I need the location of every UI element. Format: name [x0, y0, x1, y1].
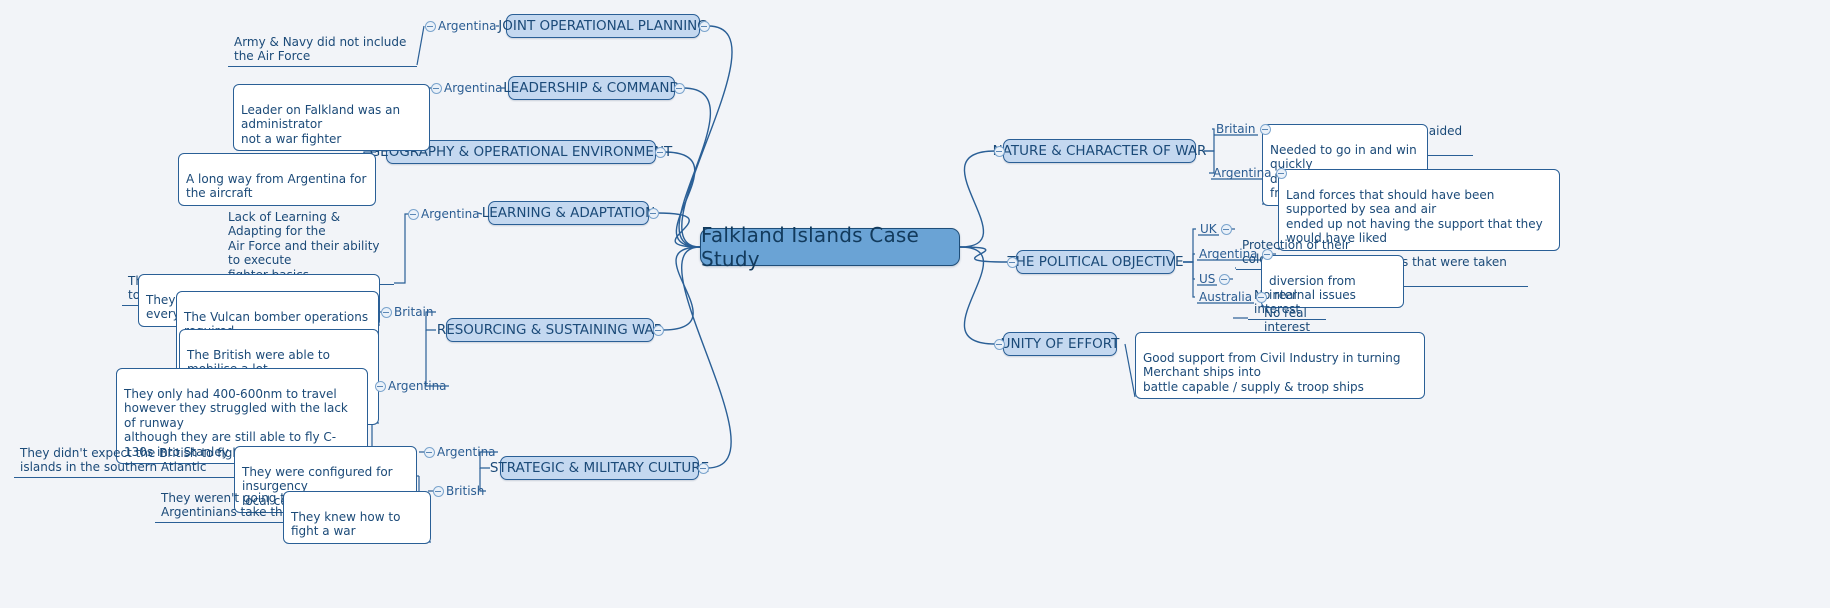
collapse-icon[interactable] — [994, 339, 1005, 350]
topic-strategic-and-military-culture[interactable]: STRATEGIC & MILITARY CULTURE — [500, 456, 699, 480]
collapse-icon[interactable] — [674, 83, 685, 94]
topic-nature-and-character-of-war[interactable]: NATURE & CHARACTER OF WAR — [1003, 139, 1196, 163]
collapse-icon[interactable] — [425, 21, 436, 32]
group-label-text: UK — [1200, 222, 1217, 236]
collapse-icon[interactable] — [648, 208, 659, 219]
topic-joint-operational-planning[interactable]: JOINT OPERATIONAL PLANNING — [506, 14, 700, 38]
collapse-icon[interactable] — [375, 381, 386, 392]
group-label-argentina[interactable]: Argentina — [438, 19, 497, 33]
topic-learning-and-adaptation[interactable]: LEARNING & ADAPTATION — [488, 201, 649, 225]
topic-label: STRATEGIC & MILITARY CULTURE — [490, 460, 709, 476]
topic-label: RESOURCING & SUSTAINING WAR — [437, 322, 663, 338]
leaf-item[interactable]: They knew how to fight a war — [283, 491, 431, 544]
group-label-british[interactable]: British — [446, 484, 484, 498]
group-label-britain[interactable]: Britain — [394, 305, 434, 319]
collapse-icon[interactable] — [653, 325, 664, 336]
topic-resourcing-and-sustaining-war[interactable]: RESOURCING & SUSTAINING WAR — [446, 318, 654, 342]
topic-label: JOINT OPERATIONAL PLANNING — [498, 18, 708, 34]
group-label-us[interactable]: US — [1199, 272, 1215, 286]
collapse-icon[interactable] — [1260, 124, 1271, 135]
root-node[interactable]: Falkland Islands Case Study — [700, 228, 960, 266]
topic-label: LEADERSHIP & COMMAND — [503, 80, 680, 96]
collapse-icon[interactable] — [424, 447, 435, 458]
topic-the-political-objective[interactable]: THE POLITICAL OBJECTIVE — [1016, 250, 1175, 274]
group-label-text: Argentina — [1213, 166, 1272, 180]
collapse-icon[interactable] — [698, 463, 709, 474]
group-label-britain[interactable]: Britain — [1216, 122, 1256, 136]
collapse-icon[interactable] — [1256, 292, 1267, 303]
topic-label: NATURE & CHARACTER OF WAR — [993, 143, 1207, 159]
group-label-text: Argentina — [437, 445, 496, 459]
group-label-text: Argentina — [444, 81, 503, 95]
topic-leadership-and-command[interactable]: LEADERSHIP & COMMAND — [508, 76, 675, 100]
group-label-argentina[interactable]: Argentina — [1213, 166, 1272, 180]
group-label-text: British — [446, 484, 484, 498]
group-label-argentina[interactable]: Argentina — [444, 81, 503, 95]
leaf-item[interactable]: No real interest — [1258, 290, 1336, 338]
group-label-argentina[interactable]: Argentina — [421, 207, 480, 221]
leaf-text: No real interest — [1264, 306, 1310, 335]
collapse-icon[interactable] — [655, 147, 666, 158]
group-label-argentina[interactable]: Argentina — [437, 445, 496, 459]
topic-unity-of-effort[interactable]: UNITY OF EFFORT — [1003, 332, 1117, 356]
collapse-icon[interactable] — [994, 146, 1005, 157]
collapse-icon[interactable] — [1007, 257, 1018, 268]
group-label-text: Argentina — [438, 19, 497, 33]
collapse-icon[interactable] — [381, 307, 392, 318]
leaf-item[interactable]: Army & Navy did not include the Air Forc… — [228, 19, 417, 67]
group-label-text: Argentina — [421, 207, 480, 221]
group-label-text: Argentina — [388, 379, 447, 393]
group-label-argentina[interactable]: Argentina — [1199, 247, 1258, 261]
collapse-icon[interactable] — [433, 486, 444, 497]
topic-label: THE POLITICAL OBJECTIVE — [1008, 254, 1184, 270]
group-label-text: US — [1199, 272, 1215, 286]
group-label-argentina[interactable]: Argentina — [388, 379, 447, 393]
collapse-icon[interactable] — [1262, 249, 1273, 260]
group-label-text: Argentina — [1199, 247, 1258, 261]
collapse-icon[interactable] — [431, 83, 442, 94]
leaf-text: Good support from Civil Industry in turn… — [1143, 351, 1400, 394]
collapse-icon[interactable] — [699, 21, 710, 32]
root-label: Falkland Islands Case Study — [701, 223, 959, 271]
topic-label: UNITY OF EFFORT — [1001, 336, 1120, 352]
topic-label: LEARNING & ADAPTATION — [482, 205, 656, 221]
leaf-item[interactable]: Good support from Civil Industry in turn… — [1135, 332, 1425, 399]
group-label-text: Britain — [394, 305, 434, 319]
group-label-uk[interactable]: UK — [1200, 222, 1217, 236]
mindmap-canvas: Falkland Islands Case Study JOINT OPERAT… — [0, 0, 1830, 608]
group-label-text: Australia — [1199, 290, 1252, 304]
collapse-icon[interactable] — [1219, 274, 1230, 285]
leaf-text: They knew how to fight a war — [291, 510, 400, 539]
group-label-australia[interactable]: Australia — [1199, 290, 1252, 304]
group-label-text: Britain — [1216, 122, 1256, 136]
collapse-icon[interactable] — [1221, 224, 1232, 235]
collapse-icon[interactable] — [408, 209, 419, 220]
collapse-icon[interactable] — [1276, 168, 1287, 179]
leaf-text: Army & Navy did not include the Air Forc… — [234, 35, 406, 64]
